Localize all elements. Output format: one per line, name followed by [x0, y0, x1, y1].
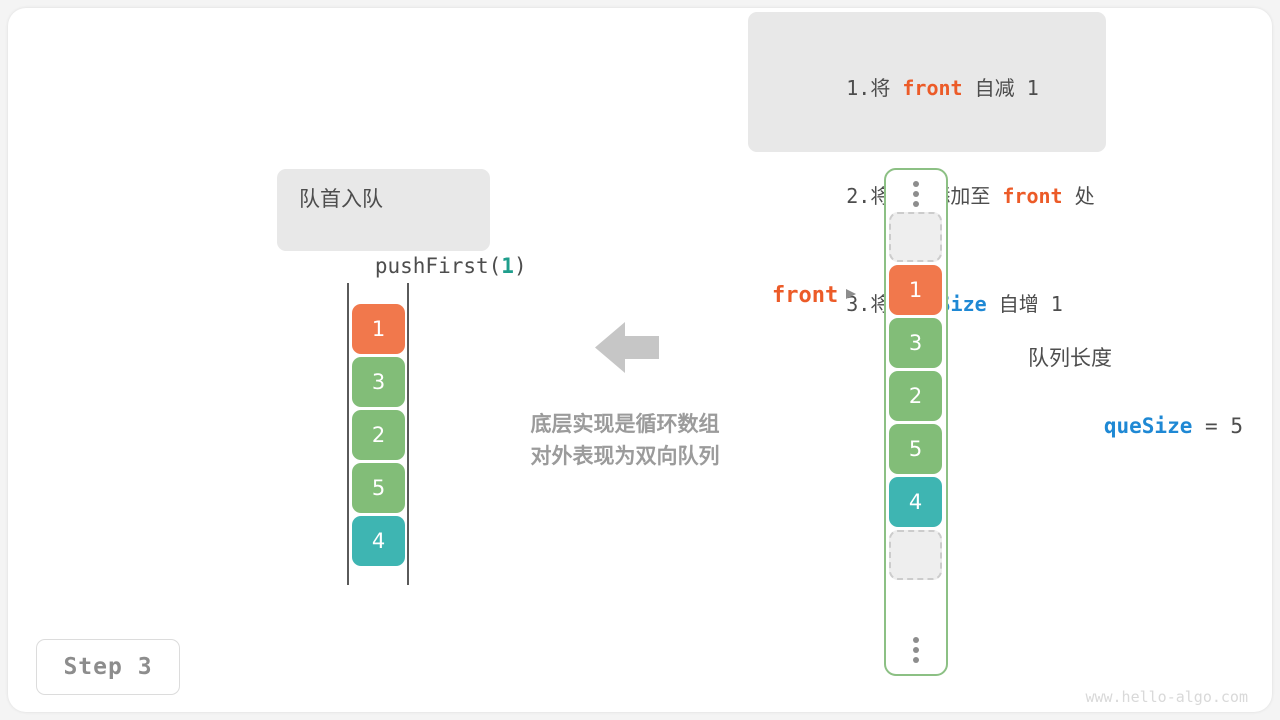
logical-deque-cells: 13254 [352, 304, 405, 569]
operation-title: 队首入队 [299, 183, 468, 215]
logical-deque-cell: 4 [352, 516, 405, 566]
circular-array-cell: 1 [889, 265, 942, 315]
circular-array-cell: 2 [889, 371, 942, 421]
front-pointer-arrow-icon [844, 286, 858, 305]
circular-array-container: 13254 [884, 168, 948, 676]
front-pointer-label: front [772, 283, 838, 308]
ellipsis-dot [913, 191, 919, 197]
instruction-2-index: 2. [846, 184, 870, 208]
logical-deque-cell: 5 [352, 463, 405, 513]
diagram-canvas: 1.将 front 自减 1 2.将元素添加至 front 处 3.将 queS… [0, 0, 1280, 720]
ellipsis-dot [913, 647, 919, 653]
logical-deque-cell: 1 [352, 304, 405, 354]
step-badge-label: Step 3 [63, 654, 152, 680]
operation-code-suffix: ) [514, 254, 527, 278]
instruction-panel: 1.将 front 自减 1 2.将元素添加至 front 处 3.将 queS… [748, 12, 1106, 152]
flow-arrow-left-icon [595, 320, 659, 375]
ellipsis-dot [913, 637, 919, 643]
logical-deque-cell: 2 [352, 410, 405, 460]
ellipsis-dot [913, 181, 919, 187]
circular-array-cell [889, 212, 942, 262]
instruction-1-suffix: 自减 1 [963, 76, 1039, 100]
logical-deque: 13254 [347, 283, 409, 585]
implementation-caption: 底层实现是循环数组 对外表现为双向队列 [460, 408, 790, 472]
circular-array-cells: 13254 [889, 212, 942, 583]
quesize-value: 5 [1230, 414, 1243, 438]
ellipsis-bottom-icon [886, 630, 946, 670]
quesize-info: 队列长度 queSize = 5 [1028, 341, 1243, 477]
circular-array-cell: 5 [889, 424, 942, 474]
instruction-1-index: 1. [846, 76, 870, 100]
quesize-equals: = [1192, 414, 1230, 438]
deque-rail-right [407, 283, 409, 585]
instruction-line-1: 1.将 front 自减 1 [774, 34, 1080, 142]
ellipsis-top-icon [886, 174, 946, 214]
quesize-name: queSize [1104, 414, 1193, 438]
instruction-1-prefix: 将 [870, 76, 902, 100]
instruction-3-suffix: 自增 1 [987, 292, 1063, 316]
ellipsis-dot [913, 201, 919, 207]
operation-code-prefix: pushFirst( [375, 254, 501, 278]
operation-panel: 队首入队 pushFirst(1) [277, 169, 490, 251]
deque-rail-left [347, 283, 349, 585]
ellipsis-dot [913, 657, 919, 663]
caption-line-1: 底层实现是循环数组 [460, 408, 790, 440]
instruction-2-suffix: 处 [1063, 184, 1095, 208]
quesize-expression: queSize = 5 [1028, 375, 1243, 477]
quesize-title: 队列长度 [1028, 341, 1243, 375]
caption-line-2: 对外表现为双向队列 [460, 440, 790, 472]
instruction-1-keyword: front [902, 76, 962, 100]
circular-array-cell: 4 [889, 477, 942, 527]
step-badge: Step 3 [36, 639, 180, 695]
circular-array-cell: 3 [889, 318, 942, 368]
circular-array-cell [889, 530, 942, 580]
instruction-2-keyword: front [1002, 184, 1062, 208]
logical-deque-cell: 3 [352, 357, 405, 407]
operation-code-arg: 1 [501, 254, 514, 278]
watermark: www.hello-algo.com [1085, 688, 1248, 706]
front-pointer: front [772, 283, 858, 308]
